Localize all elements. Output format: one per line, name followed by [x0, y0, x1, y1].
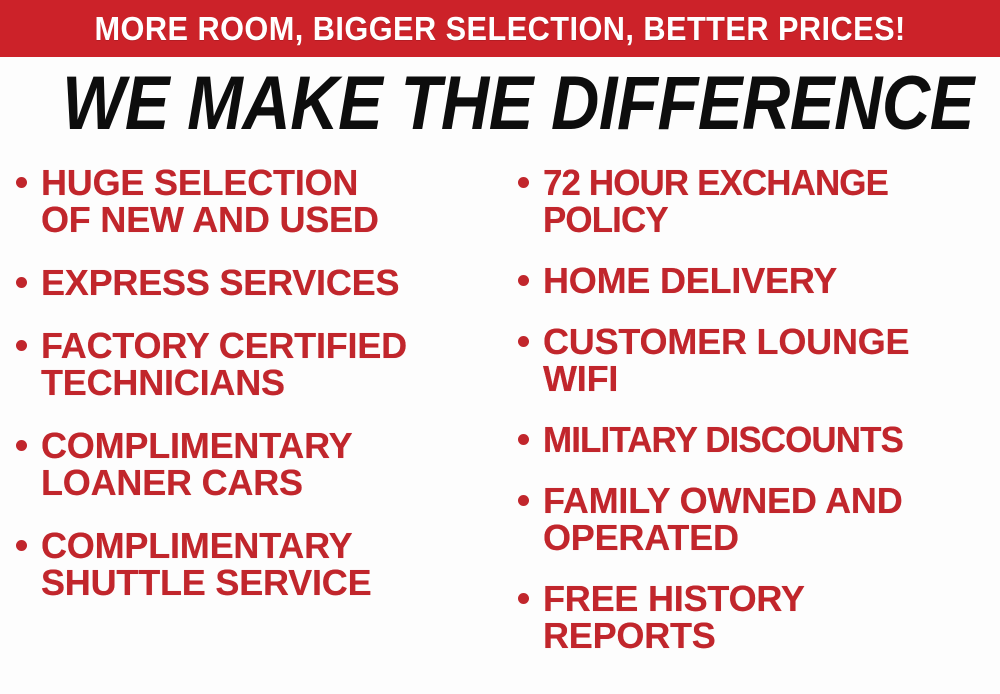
list-item: HOME DELIVERY: [518, 262, 1000, 299]
list-item: COMPLIMENTARY SHUTTLE SERVICE: [16, 527, 500, 601]
bullet-dot-icon: [518, 336, 529, 347]
bullet-dot-icon: [16, 277, 27, 288]
bullet-dot-icon: [16, 177, 27, 188]
top-banner-text: MORE ROOM, BIGGER SELECTION, BETTER PRIC…: [94, 12, 905, 45]
top-banner: MORE ROOM, BIGGER SELECTION, BETTER PRIC…: [0, 0, 1000, 57]
list-item: FAMILY OWNED AND OPERATED: [518, 482, 1000, 556]
list-item-label: FACTORY CERTIFIED TECHNICIANS: [41, 327, 407, 401]
list-item: FACTORY CERTIFIED TECHNICIANS: [16, 327, 500, 401]
list-item: HUGE SELECTION OF NEW AND USED: [16, 164, 500, 238]
headline-block: WE MAKE THE DIFFERENCE: [0, 66, 1000, 142]
list-item-label: EXPRESS SERVICES: [41, 264, 399, 301]
list-item: MILITARY DISCOUNTS: [518, 421, 1000, 458]
bullet-dot-icon: [518, 275, 529, 286]
bullet-dot-icon: [16, 440, 27, 451]
list-item-label: MILITARY DISCOUNTS: [543, 421, 903, 458]
list-item-label: CUSTOMER LOUNGE WIFI: [543, 323, 909, 397]
list-item-label: 72 HOUR EXCHANGE POLICY: [543, 164, 888, 238]
list-item: CUSTOMER LOUNGE WIFI: [518, 323, 1000, 397]
bullet-dot-icon: [518, 177, 529, 188]
bullet-dot-icon: [518, 593, 529, 604]
list-item-label: HOME DELIVERY: [543, 262, 837, 299]
benefits-column-left: HUGE SELECTION OF NEW AND USED EXPRESS S…: [0, 158, 500, 627]
list-item-label: HUGE SELECTION OF NEW AND USED: [41, 164, 379, 238]
bullet-dot-icon: [518, 495, 529, 506]
list-item-label: FREE HISTORY REPORTS: [543, 580, 805, 654]
list-item-label: COMPLIMENTARY LOANER CARS: [41, 427, 352, 501]
benefits-column-right: 72 HOUR EXCHANGE POLICY HOME DELIVERY CU…: [500, 158, 1000, 678]
bullet-dot-icon: [16, 340, 27, 351]
list-item-label: FAMILY OWNED AND OPERATED: [543, 482, 903, 556]
list-item: EXPRESS SERVICES: [16, 264, 500, 301]
page-title: WE MAKE THE DIFFERENCE: [62, 66, 974, 142]
benefits-columns: HUGE SELECTION OF NEW AND USED EXPRESS S…: [0, 158, 1000, 688]
list-item: 72 HOUR EXCHANGE POLICY: [518, 164, 1000, 238]
list-item-label: COMPLIMENTARY SHUTTLE SERVICE: [41, 527, 371, 601]
bullet-dot-icon: [518, 434, 529, 445]
bullet-dot-icon: [16, 540, 27, 551]
list-item: FREE HISTORY REPORTS: [518, 580, 1000, 654]
promo-poster: MORE ROOM, BIGGER SELECTION, BETTER PRIC…: [0, 0, 1000, 694]
list-item: COMPLIMENTARY LOANER CARS: [16, 427, 500, 501]
